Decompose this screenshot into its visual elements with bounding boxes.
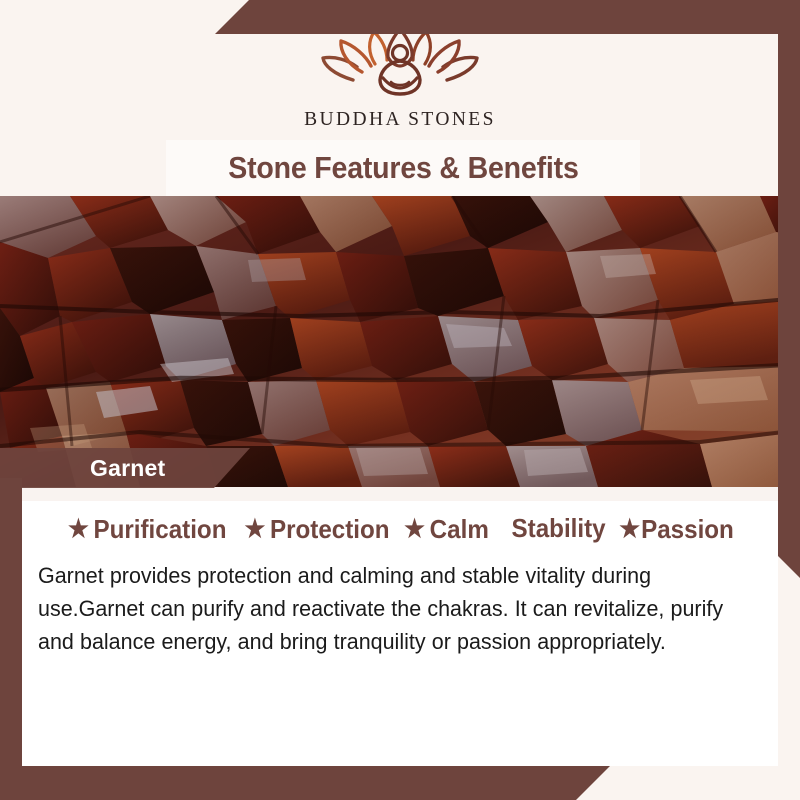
brand-wordmark: BUDDHA STONES [304,109,496,131]
star-icon: ★ [404,517,425,542]
frame-bottom-bar [0,766,610,800]
benefit-item: ★ Passion [619,514,734,545]
benefit-label: Purification [94,514,227,545]
garnet-crystal-cluster-photo [0,196,800,487]
star-icon: ★ [619,517,640,542]
benefit-item: ★ Calm [404,514,489,545]
lotus-meditation-figure-icon [317,26,483,102]
benefit-item: ★ Protection [244,514,389,545]
title-banner: Stone Features & Benefits [166,140,640,196]
star-icon: ★ [68,517,89,542]
panel-top-strip [22,487,778,501]
benefit-label: Stability [511,513,605,544]
stone-description: Garnet provides protection and calming a… [38,559,731,658]
stone-name: Garnet [90,455,165,482]
benefit-item: ★ Purification [68,514,227,545]
benefit-label: Passion [641,514,734,545]
benefit-label: Calm [429,514,488,545]
frame-left-bar [0,478,22,800]
stone-name-banner: Garnet [0,448,250,488]
page-title: Stone Features & Benefits [228,150,578,186]
benefit-label: Protection [270,514,390,545]
stone-info-card: BUDDHA STONES [0,0,800,800]
benefit-keyword-row: ★ Purification ★ Protection ★ Calm Stabi… [22,513,778,545]
brand-logo-block: BUDDHA STONES [0,0,800,150]
benefit-item: Stability [511,513,605,544]
star-icon: ★ [244,517,265,542]
content-panel: ★ Purification ★ Protection ★ Calm Stabi… [22,487,778,766]
